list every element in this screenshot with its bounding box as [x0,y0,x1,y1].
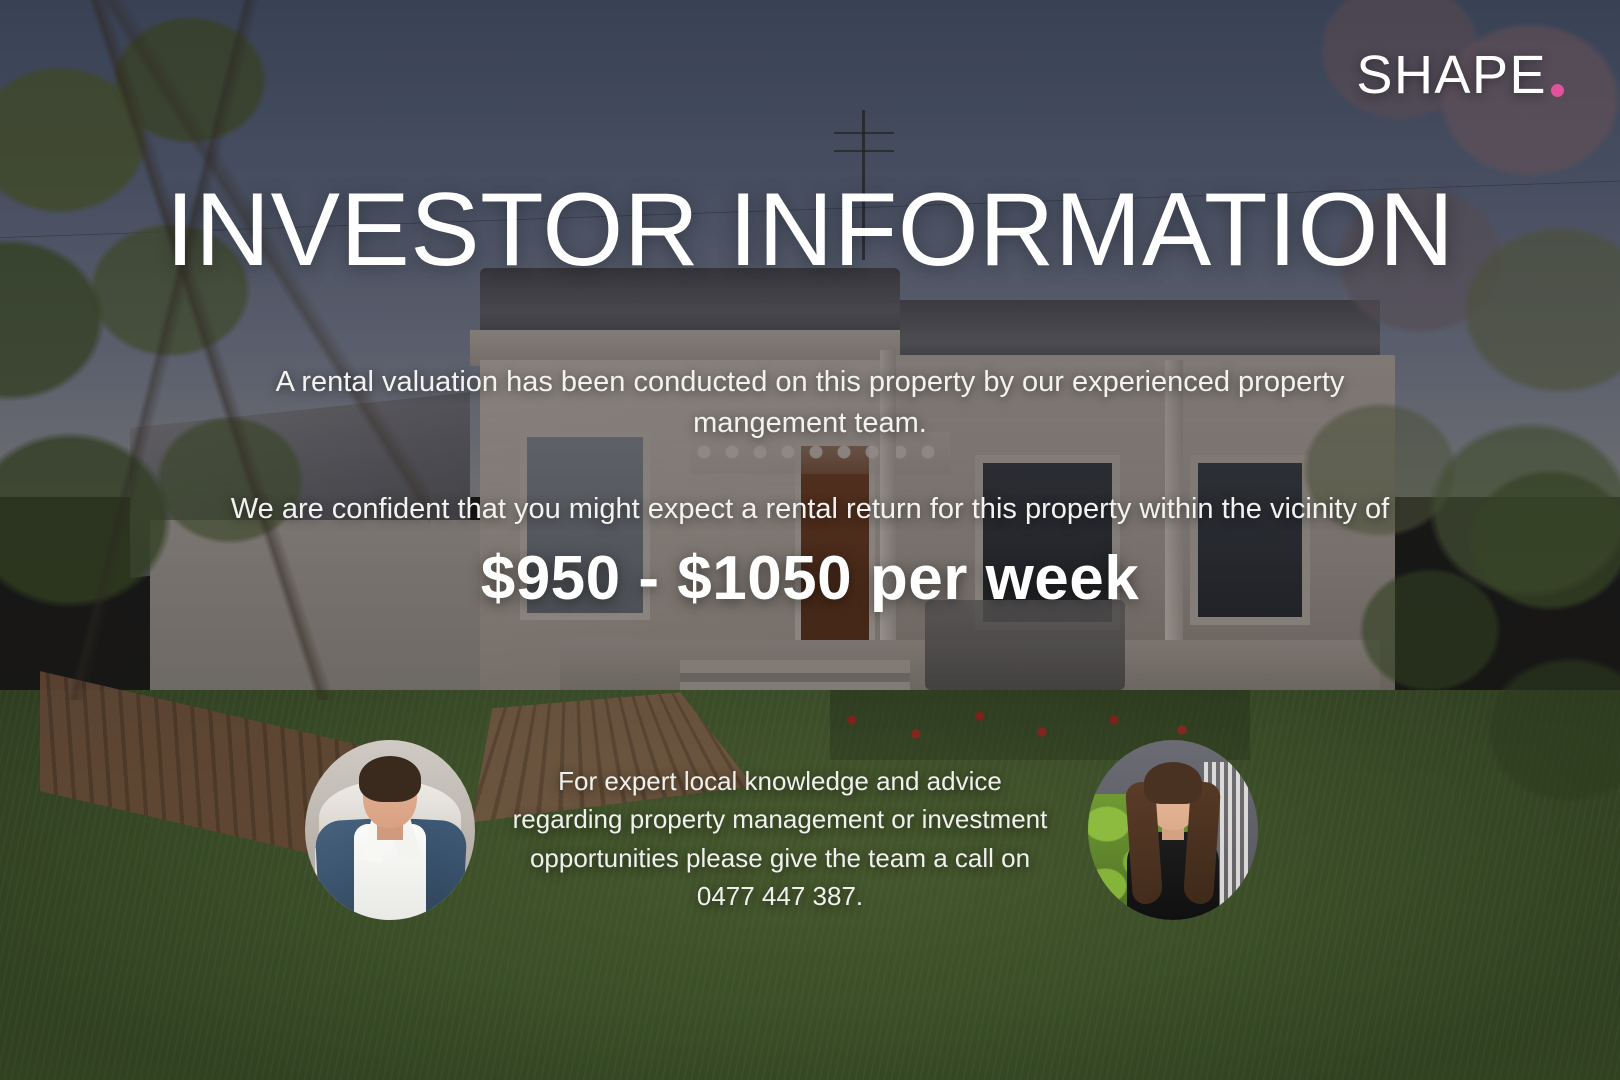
agent-portrait-right [1088,740,1258,920]
brand-dot-icon [1551,84,1564,97]
investor-information-slide: SHAPE INVESTOR INFORMATION A rental valu… [0,0,1620,1080]
page-title: INVESTOR INFORMATION [0,178,1620,282]
brand-logo: SHAPE [1356,48,1564,102]
contact-paragraph: For expert local knowledge and advice re… [510,762,1050,916]
content-layer: SHAPE INVESTOR INFORMATION A rental valu… [0,0,1620,1080]
agent-figure-male [305,740,475,920]
valuation-paragraph: A rental valuation has been conducted on… [0,362,1620,444]
price-range: $950 - $1050 per week [0,543,1620,614]
brand-logo-text: SHAPE [1356,48,1547,102]
hair [359,756,421,802]
rental-return-paragraph: We are confident that you might expect a… [0,489,1620,530]
hair-crown [1144,762,1202,804]
agent-portrait-left [305,740,475,920]
agent-figure-female [1088,740,1258,920]
